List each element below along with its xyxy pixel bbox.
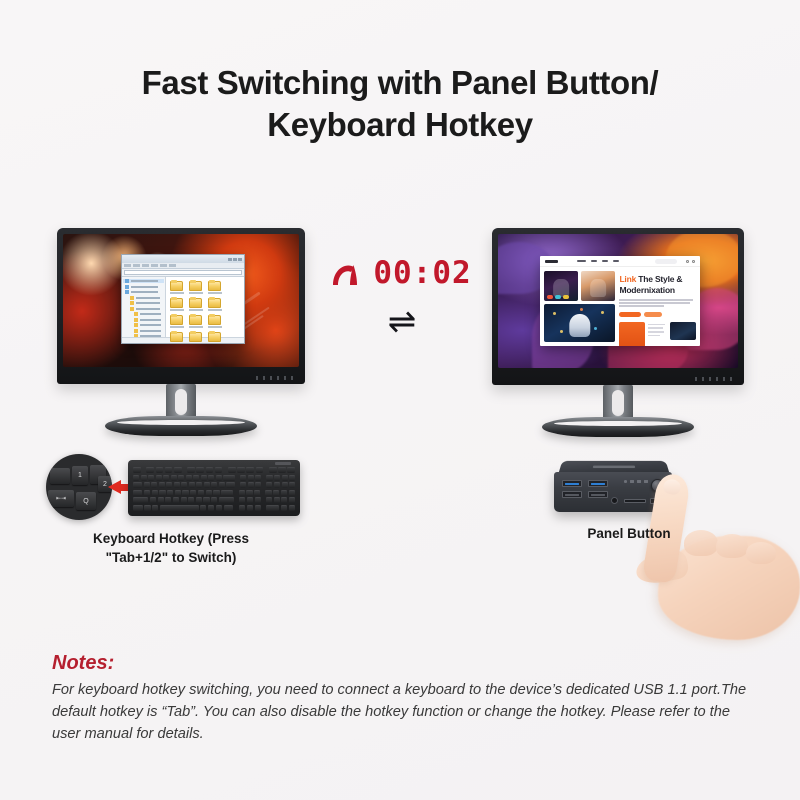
left-monitor-bezel <box>57 228 305 384</box>
dock-front-panel <box>554 472 672 512</box>
hero-text-column: Link The Style & Modernixation <box>619 271 696 342</box>
left-monitor <box>57 228 305 384</box>
hero-image-grid <box>544 271 615 342</box>
explorer-addressbar[interactable] <box>122 269 244 277</box>
keyboard-space-row <box>133 505 295 511</box>
sd-card-slot[interactable] <box>624 499 646 503</box>
panel-button[interactable] <box>651 479 664 492</box>
right-monitor-bezel: Link The Style & Modernixation <box>492 228 744 385</box>
explorer-folder-grid[interactable] <box>166 277 244 337</box>
file-explorer-window <box>121 254 245 344</box>
palm <box>658 536 800 640</box>
left-monitor-screen <box>63 234 299 367</box>
keyboard-shift-row <box>133 497 295 503</box>
browser-content: Link The Style & Modernixation <box>540 267 700 346</box>
folder-item[interactable] <box>188 281 204 294</box>
keyboard-hotkey-section: 1 2 ⇤⇥ Q <box>46 450 306 567</box>
keyboard-function-row <box>133 467 295 473</box>
switch-timer-group: 00:02 ⇌ <box>322 258 482 339</box>
left-monitor-osd-buttons[interactable] <box>256 376 293 380</box>
right-monitor: Link The Style & Modernixation <box>492 228 744 385</box>
notes-title: Notes: <box>52 652 758 675</box>
dock-side-port[interactable] <box>650 498 665 504</box>
usb-port[interactable] <box>588 480 608 487</box>
right-monitor-screen: Link The Style & Modernixation <box>498 234 738 368</box>
dock-brand-logo <box>593 466 635 468</box>
keyboard-number-row <box>133 475 295 481</box>
promo-thumbnail[interactable] <box>670 322 696 340</box>
hero-headline: Link The Style & Modernixation <box>619 274 696 295</box>
cta-primary-button[interactable] <box>619 312 641 317</box>
right-monitor-osd-buttons[interactable] <box>695 377 732 381</box>
thumb <box>634 549 690 586</box>
explorer-tree-sidebar[interactable] <box>122 277 166 337</box>
left-monitor-stand-base <box>105 416 257 436</box>
hero-headline-rest: The Style & <box>636 274 682 284</box>
promo-price-card[interactable] <box>619 322 645 346</box>
folder-item[interactable] <box>169 281 185 294</box>
panel-button-caption: Panel Button <box>540 526 718 541</box>
key-tilde <box>50 468 70 484</box>
keyboard-row: 1 2 ⇤⇥ Q <box>46 450 306 522</box>
page-title: Fast Switching with Panel Button/ Keyboa… <box>0 62 800 146</box>
usb-port[interactable] <box>562 480 582 487</box>
site-nav-icons[interactable] <box>686 260 695 263</box>
keyboard-caption-line-1: Keyboard Hotkey (Press <box>46 529 296 548</box>
site-logo[interactable] <box>545 260 558 263</box>
docking-station <box>554 458 672 516</box>
folder-item[interactable] <box>169 298 185 311</box>
folder-item[interactable] <box>188 315 204 328</box>
speed-gauge-icon <box>332 261 366 287</box>
hero-card-robot[interactable] <box>544 304 615 342</box>
folder-item[interactable] <box>207 315 223 328</box>
folder-item[interactable] <box>188 298 204 311</box>
key-zoom-inset: 1 2 ⇤⇥ Q <box>46 454 112 520</box>
notes-block: Notes: For keyboard hotkey switching, yo… <box>52 652 758 745</box>
title-line-2: Keyboard Hotkey <box>0 104 800 146</box>
keyboard-brand-logo <box>275 462 291 465</box>
hero-card-portrait[interactable] <box>581 271 615 301</box>
marketing-page: Fast Switching with Panel Button/ Keyboa… <box>0 0 800 800</box>
site-nav-links[interactable] <box>577 260 619 263</box>
keyboard-device[interactable] <box>128 460 300 516</box>
swap-arrow-icon: ⇌ <box>322 305 482 339</box>
hero-headline-line2: Modernixation <box>619 285 675 295</box>
dock-usb-ports[interactable] <box>562 480 608 498</box>
site-search-input[interactable] <box>655 259 677 264</box>
folder-item[interactable] <box>207 281 223 294</box>
keyboard-qwerty-row <box>133 482 295 488</box>
hero-cta-buttons[interactable] <box>619 312 696 317</box>
cta-secondary-button[interactable] <box>644 312 662 317</box>
title-line-1: Fast Switching with Panel Button/ <box>0 62 800 104</box>
folder-item[interactable] <box>207 298 223 311</box>
usb-port[interactable] <box>562 491 582 498</box>
keyboard-caption-line-2: "Tab+1/2" to Switch) <box>46 548 296 567</box>
folder-item[interactable] <box>169 315 185 328</box>
browser-window: Link The Style & Modernixation <box>540 256 700 346</box>
browser-navbar <box>540 256 700 267</box>
hero-paragraph <box>619 299 696 307</box>
hero-card-character[interactable] <box>544 271 578 301</box>
promo-text <box>648 322 667 336</box>
dock-indicator-leds <box>624 480 648 483</box>
key-tab: ⇤⇥ <box>48 490 74 507</box>
usb-port[interactable] <box>588 491 608 498</box>
explorer-titlebar <box>122 255 244 263</box>
key-q: Q <box>76 492 96 510</box>
keyboard-hotkey-caption: Keyboard Hotkey (Press "Tab+1/2" to Swit… <box>46 529 296 567</box>
promo-row <box>619 322 696 346</box>
explorer-body <box>122 277 244 337</box>
red-pointer-arrow <box>108 480 121 494</box>
keyboard-home-row <box>133 490 295 496</box>
notes-body: For keyboard hotkey switching, you need … <box>52 679 758 745</box>
key-1: 1 <box>72 466 88 485</box>
timer-row: 00:02 <box>322 258 482 289</box>
timer-value: 00:02 <box>373 258 471 289</box>
right-monitor-stand-base <box>542 417 694 437</box>
hero-headline-accent: Link <box>619 274 636 284</box>
audio-jack-port[interactable] <box>611 497 618 504</box>
